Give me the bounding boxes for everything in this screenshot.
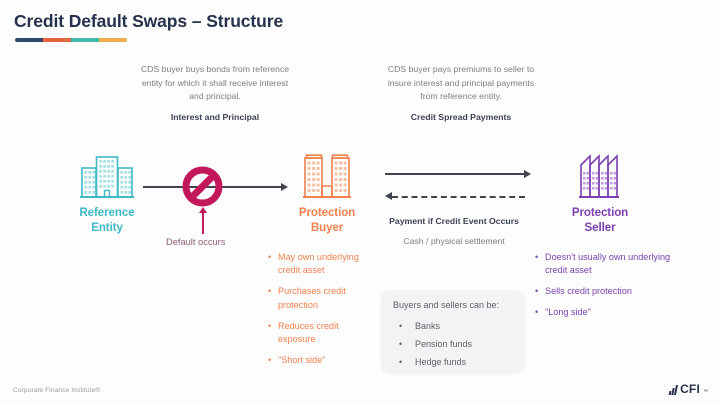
factory-icon xyxy=(545,152,655,200)
slide-canvas: Credit Default Swaps – Structure CDS buy… xyxy=(0,0,720,404)
list-item: • May own underlying credit asset xyxy=(268,251,378,278)
bullet-icon: • xyxy=(268,320,278,347)
entity-label-line1: Protection xyxy=(572,206,628,219)
list-item-label: Hedge funds xyxy=(415,357,466,367)
twin-towers-icon xyxy=(272,152,382,200)
bullet-icon: • xyxy=(399,321,415,331)
caption-left-emphasis: Interest and Principal xyxy=(139,111,291,125)
rule-segment-2 xyxy=(43,38,71,42)
entity-label-reference-entity: Reference Entity xyxy=(52,206,162,235)
caption-right-body: CDS buyer pays premiums to seller to ins… xyxy=(388,64,534,101)
office-building-icon xyxy=(52,152,162,200)
bullet-icon: • xyxy=(535,306,545,319)
rule-segment-3 xyxy=(71,38,99,42)
list-item: • Purchases credit protection xyxy=(268,285,378,312)
entity-protection-buyer: Protection Buyer xyxy=(272,152,382,235)
bullet-icon: • xyxy=(535,251,545,278)
entity-label-line2: Entity xyxy=(91,221,123,234)
entity-label-line1: Reference xyxy=(79,206,134,219)
title-underline-rule xyxy=(15,38,127,42)
arrow-buyer-to-seller-head xyxy=(524,170,531,178)
list-item-label: Reduces credit exposure xyxy=(278,320,378,347)
footer-attribution: Corporate Finance Institute® xyxy=(13,387,100,394)
caption-left: CDS buyer buys bonds from reference enti… xyxy=(139,63,291,124)
list-item-label: Banks xyxy=(415,321,440,331)
list-item: • Hedge funds xyxy=(399,357,466,367)
list-item-label: "Long side" xyxy=(545,306,675,319)
default-occurs-arrow-head xyxy=(199,207,207,213)
default-occurs-arrow-line xyxy=(202,212,204,234)
caption-right-emphasis: Credit Spread Payments xyxy=(381,111,541,125)
rule-segment-1 xyxy=(15,38,43,42)
list-item-label: Sells credit protection xyxy=(545,285,675,298)
bullet-icon: • xyxy=(399,357,415,367)
caption-right: CDS buyer pays premiums to seller to ins… xyxy=(381,63,541,124)
list-item-label: Doesn't usually own underlying credit as… xyxy=(545,251,675,278)
rule-segment-4 xyxy=(99,38,127,42)
list-item-label: May own underlying credit asset xyxy=(278,251,378,278)
bullet-icon: • xyxy=(535,285,545,298)
list-item-label: "Short side" xyxy=(278,354,378,367)
card-heading: Buyers and sellers can be: xyxy=(393,300,499,310)
list-item: • Doesn't usually own underlying credit … xyxy=(535,251,675,278)
list-item-label: Pension funds xyxy=(415,339,472,349)
buyers-sellers-card: Buyers and sellers can be: • Banks • Pen… xyxy=(381,290,525,373)
entity-reference-entity: Reference Entity xyxy=(52,152,162,235)
list-item: • "Short side" xyxy=(268,354,378,367)
cfi-logo-text: CFI xyxy=(680,384,700,395)
buyer-bullet-list: • May own underlying credit asset • Purc… xyxy=(268,251,378,375)
bullet-icon: • xyxy=(268,354,278,367)
list-item: • Banks xyxy=(399,321,440,331)
list-item: • Pension funds xyxy=(399,339,472,349)
list-item: • Sells credit protection xyxy=(535,285,675,298)
arrow-seller-to-buyer-head xyxy=(385,192,392,200)
entity-label-protection-seller: Protection Seller xyxy=(545,206,655,235)
middle-flow-caption: Payment if Credit Event Occurs Cash / ph… xyxy=(381,215,527,248)
list-item-label: Purchases credit protection xyxy=(278,285,378,312)
list-item: • Reduces credit exposure xyxy=(268,320,378,347)
entity-label-line2: Seller xyxy=(585,221,616,234)
arrow-buyer-to-seller-line xyxy=(385,173,525,175)
entity-protection-seller: Protection Seller xyxy=(545,152,655,235)
middle-flow-subtext: Cash / physical settlement xyxy=(381,235,527,249)
seller-bullet-list: • Doesn't usually own underlying credit … xyxy=(535,251,675,327)
bar-chart-icon xyxy=(669,385,677,395)
cfi-logo: CFI ™ xyxy=(669,384,708,395)
page-title: Credit Default Swaps – Structure xyxy=(14,11,283,32)
list-item: • "Long side" xyxy=(535,306,675,319)
entity-label-line2: Buyer xyxy=(311,221,343,234)
cfi-logo-tm: ™ xyxy=(703,389,708,395)
bullet-icon: • xyxy=(268,285,278,312)
middle-flow-emphasis: Payment if Credit Event Occurs xyxy=(381,215,527,229)
caption-left-body: CDS buyer buys bonds from reference enti… xyxy=(141,64,289,101)
entity-label-protection-buyer: Protection Buyer xyxy=(272,206,382,235)
bullet-icon: • xyxy=(268,251,278,278)
prohibited-icon xyxy=(182,166,223,212)
bullet-icon: • xyxy=(399,339,415,349)
default-occurs-label: Default occurs xyxy=(166,237,225,247)
arrow-seller-to-buyer-dashed-line xyxy=(392,196,525,198)
entity-label-line1: Protection xyxy=(299,206,355,219)
